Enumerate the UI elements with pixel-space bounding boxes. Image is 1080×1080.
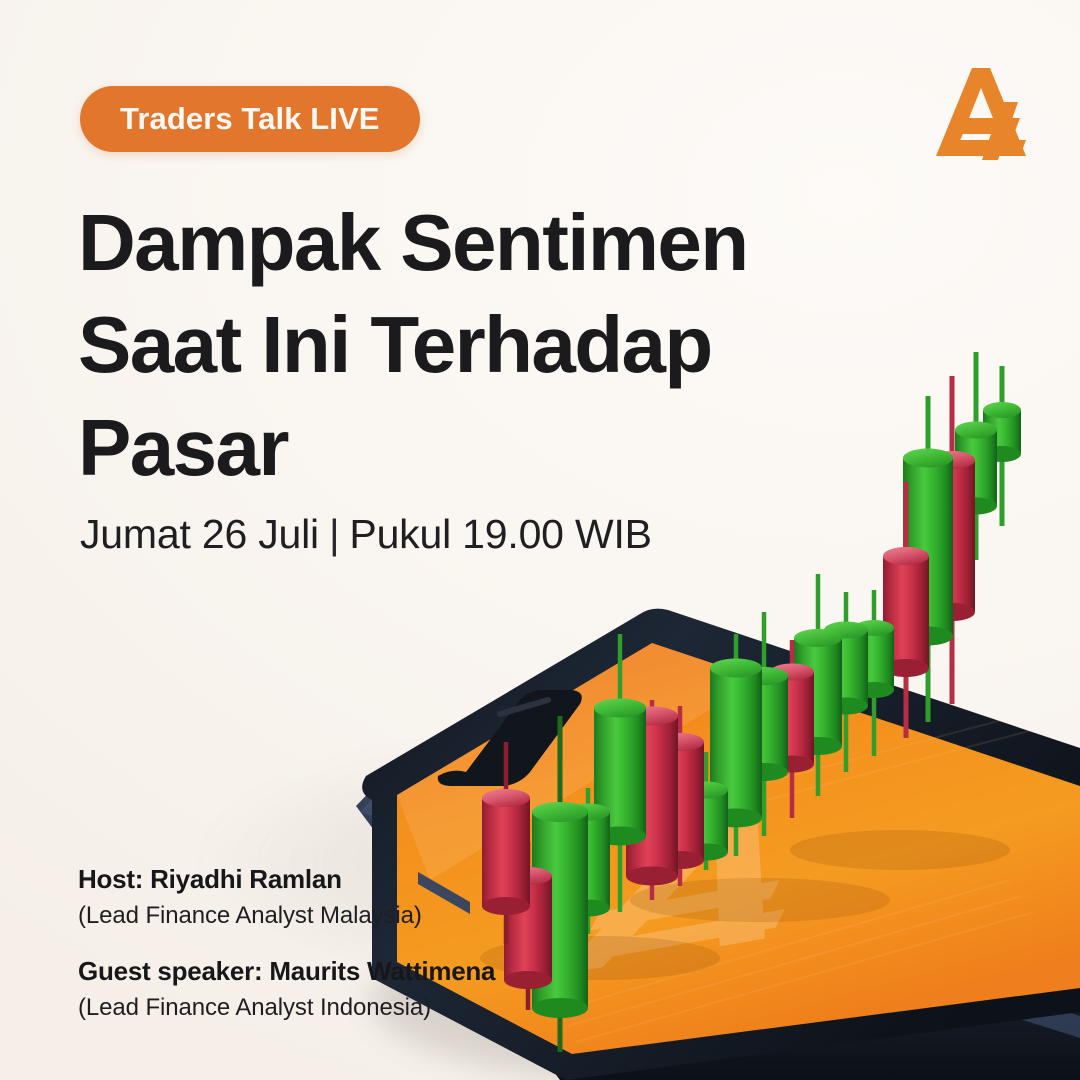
credit-guest-role: (Lead Finance Analyst Indonesia) [78, 994, 495, 1022]
headline-line-2: Saat Ini Terhadap [78, 294, 838, 396]
credit-host: Host: Riyadhi Ramlan (Lead Finance Analy… [78, 864, 495, 930]
credit-host-name: Host: Riyadhi Ramlan [78, 864, 495, 895]
credit-guest: Guest speaker: Maurits Wattimena (Lead F… [78, 956, 495, 1022]
page-title: Dampak Sentimen Saat Ini Terhadap Pasar [78, 192, 838, 499]
live-badge: Traders Talk LIVE [80, 86, 420, 152]
promo-poster: Traders Talk LIVE Dampak Sentimen Saat I… [0, 0, 1080, 1080]
schedule-separator: | [329, 511, 339, 558]
headline-line-3: Pasar [78, 397, 838, 499]
live-badge-label: Traders Talk LIVE [120, 101, 380, 137]
brand-a-logo-icon [928, 56, 1032, 164]
credits: Host: Riyadhi Ramlan (Lead Finance Analy… [78, 864, 495, 1022]
schedule-line: Jumat 26 Juli|Pukul 19.00 WIB [80, 511, 652, 558]
schedule-time: Pukul 19.00 WIB [349, 511, 651, 557]
headline-line-1: Dampak Sentimen [78, 192, 838, 294]
credit-guest-name: Guest speaker: Maurits Wattimena [78, 956, 495, 987]
credit-host-role: (Lead Finance Analyst Malaysia) [78, 902, 495, 930]
schedule-date: Jumat 26 Juli [80, 511, 319, 557]
